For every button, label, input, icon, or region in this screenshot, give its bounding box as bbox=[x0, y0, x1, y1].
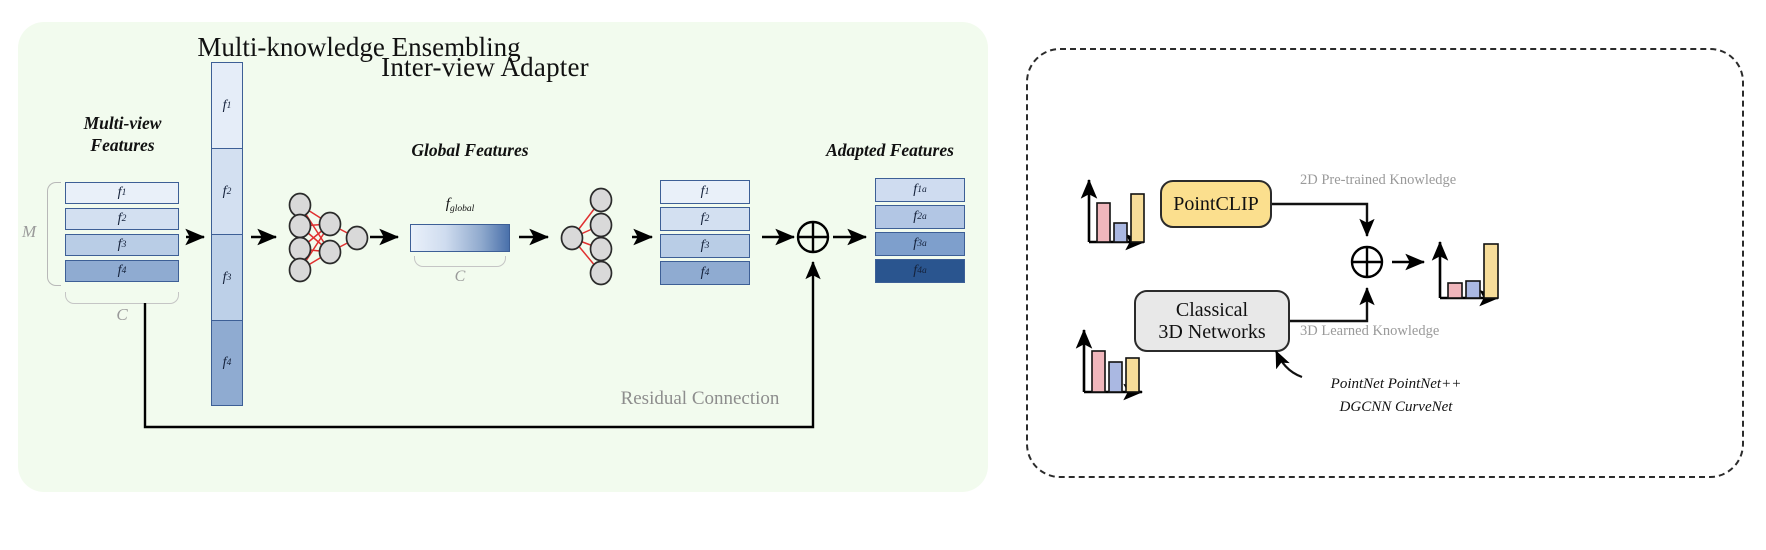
network-names-line2: DGCNN CurveNet bbox=[1296, 396, 1496, 419]
brace-m-icon bbox=[47, 182, 61, 286]
adapted-feature-stack: f1af2af3af4a bbox=[875, 178, 965, 283]
feature-block: f4a bbox=[875, 259, 965, 283]
classical-label-line1: Classical bbox=[1158, 299, 1265, 321]
feature-block: f1a bbox=[875, 178, 965, 202]
global-features-label: Global Features bbox=[370, 140, 570, 161]
multi-view-features-label: Multi-view Features bbox=[40, 112, 205, 157]
residual-connection-label: Residual Connection bbox=[600, 388, 800, 410]
feature-label-subscript: 4 bbox=[122, 266, 127, 276]
feature-label-subscript: 3 bbox=[227, 273, 232, 283]
feature-label-subscript: 4 bbox=[705, 268, 710, 278]
feature-block: f2 bbox=[660, 207, 750, 231]
feature-block: f4 bbox=[65, 260, 179, 282]
multi-view-feature-stack: f1f2f3f4 bbox=[65, 182, 179, 282]
multi-view-features-label-line1: Multi-view bbox=[40, 112, 205, 134]
feature-label-superscript: a bbox=[922, 239, 927, 249]
decoded-feature-stack: f1f2f3f4 bbox=[660, 180, 750, 285]
feature-label-superscript: a bbox=[922, 266, 927, 276]
caption-2d-pretrained-knowledge: 2D Pre-trained Knowledge bbox=[1300, 172, 1456, 189]
feature-block: f1 bbox=[65, 182, 179, 204]
feature-label-subscript: 2 bbox=[705, 214, 710, 224]
concat-segment: f4 bbox=[211, 320, 243, 406]
multi-knowledge-ensembling-title: Multi-knowledge Ensembling bbox=[0, 32, 718, 63]
dim-label-m: M bbox=[22, 222, 36, 242]
concat-segment: f3 bbox=[211, 234, 243, 320]
multi-view-features-label-line2: Features bbox=[40, 134, 205, 156]
dim-label-c-global: C bbox=[414, 268, 506, 286]
feature-label-subscript: 3 bbox=[705, 241, 710, 251]
concat-segment: f1 bbox=[211, 62, 243, 148]
feature-block: f2 bbox=[65, 208, 179, 230]
feature-label-subscript: 1 bbox=[122, 188, 127, 198]
dim-label-c-multiview: C bbox=[65, 305, 179, 325]
network-names-line1: PointNet PointNet++ bbox=[1296, 373, 1496, 396]
global-vector-label: fglobal bbox=[410, 196, 510, 214]
feature-block: f3a bbox=[875, 232, 965, 256]
feature-block: f2a bbox=[875, 205, 965, 229]
network-names-annotation: PointNet PointNet++ DGCNN CurveNet bbox=[1296, 373, 1496, 420]
concatenated-feature-bar: f1f2f3f4 bbox=[211, 62, 243, 406]
concat-segment: f2 bbox=[211, 148, 243, 234]
feature-block: f3 bbox=[65, 234, 179, 256]
pointclip-box[interactable]: PointCLIP bbox=[1160, 180, 1272, 228]
classical-3d-networks-box[interactable]: Classical 3D Networks bbox=[1134, 290, 1290, 352]
caption-3d-learned-knowledge: 3D Learned Knowledge bbox=[1300, 323, 1439, 340]
feature-label-superscript: a bbox=[922, 212, 927, 222]
feature-block: f3 bbox=[660, 234, 750, 258]
global-vector-subscript: global bbox=[450, 204, 474, 214]
feature-label-subscript: 1 bbox=[705, 187, 710, 197]
classical-label-line2: 3D Networks bbox=[1158, 321, 1265, 343]
global-feature-vector bbox=[410, 224, 510, 252]
brace-c-icon bbox=[65, 292, 179, 304]
feature-label-subscript: 4 bbox=[227, 358, 232, 368]
brace-c-global-icon bbox=[414, 256, 506, 267]
feature-block: f4 bbox=[660, 261, 750, 285]
feature-label-subscript: 2 bbox=[122, 214, 127, 224]
feature-label-subscript: 1 bbox=[227, 101, 232, 111]
feature-label-superscript: a bbox=[922, 185, 927, 195]
adapted-features-label: Adapted Features bbox=[790, 140, 990, 161]
feature-block: f1 bbox=[660, 180, 750, 204]
feature-label-subscript: 2 bbox=[227, 187, 232, 197]
feature-label-subscript: 3 bbox=[122, 240, 127, 250]
